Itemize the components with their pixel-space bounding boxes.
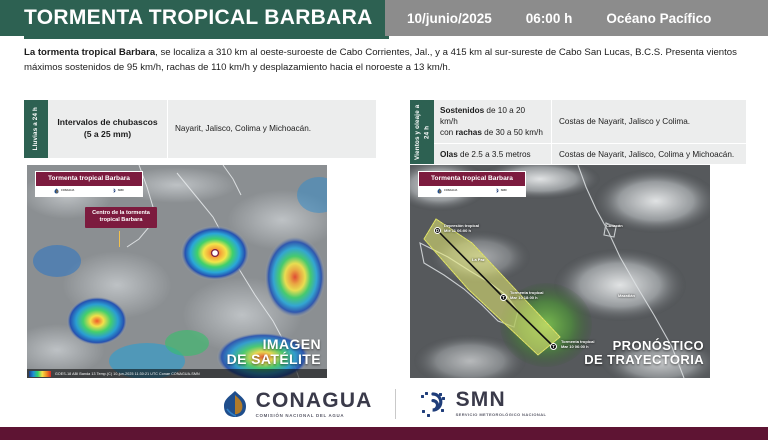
wind-table-side-text: Vientos y oleaje a 24 h <box>413 100 432 164</box>
smn-mini-label: SMN <box>501 190 507 193</box>
wind-forecast-table: Vientos y oleaje a 24 h Sostenidos de 10… <box>410 100 746 164</box>
smn-logo-icon <box>494 188 499 194</box>
satellite-caption-line2: DE SATÉLITE <box>227 352 321 368</box>
wind-gusts-label: rachas <box>455 128 481 137</box>
forecast-point-label-line2: Mié 11 06:00 h <box>444 228 479 233</box>
callout-connector <box>119 231 120 247</box>
smn-brand: SMN SERVICIO METEOROLÓGICO NACIONAL <box>418 389 547 419</box>
storm-description-lead: La tormenta tropical Barbara <box>24 47 155 58</box>
wind-sustained-label: Sostenidos <box>440 106 484 115</box>
wind-table-rows: Sostenidos de 10 a 20 km/h con rachas de… <box>434 100 746 164</box>
conagua-logo-icon <box>222 389 248 419</box>
smn-logo-icon <box>111 188 116 194</box>
footer-branding: CONAGUA COMISIÓN NACIONAL DEL AGUA <box>0 380 768 427</box>
header-title-box: TORMENTA TROPICAL BARBARA <box>0 0 385 36</box>
city-label: La Paz <box>472 257 485 262</box>
conagua-mini-logo: CONAGUA <box>437 188 457 194</box>
waves-value: de 2.5 a 3.5 metros <box>458 150 531 159</box>
storm-legend-logos: CONAGUA SMN <box>36 186 142 196</box>
rain-forecast-table: Lluvias a 24 h Intervalos de chubascos (… <box>24 100 376 158</box>
smn-mini-label: SMN <box>118 190 124 193</box>
trajectory-caption-line2: DE TRAYECTORIA <box>584 353 704 368</box>
header-bar: TORMENTA TROPICAL BARBARA 10/junio/2025 … <box>0 0 768 36</box>
page-title: TORMENTA TROPICAL BARBARA <box>24 6 373 30</box>
satellite-image-panel[interactable]: Centro de la tormenta tropical Barbara T… <box>27 165 327 378</box>
header-meta-box: 10/junio/2025 06:00 h Océano Pacífico <box>385 0 768 36</box>
wind-regions-cell: Costas de Nayarit, Jalisco y Colima. <box>552 100 746 143</box>
smn-subtitle: SERVICIO METEOROLÓGICO NACIONAL <box>456 412 547 418</box>
waves-label: Olas <box>440 150 458 159</box>
storm-legend-badge: Tormenta tropical Barbara CONAGUA SMN <box>35 171 143 197</box>
conagua-subtitle: COMISIÓN NACIONAL DEL AGUA <box>256 413 373 418</box>
storm-center-callout: Centro de la tormenta tropical Barbara <box>85 207 157 228</box>
smn-mini-logo: SMN <box>494 188 506 194</box>
smn-mini-logo: SMN <box>111 188 123 194</box>
trajectory-caption: PRONÓSTICO DE TRAYECTORIA <box>584 339 704 368</box>
conagua-brand: CONAGUA COMISIÓN NACIONAL DEL AGUA <box>222 389 373 419</box>
satellite-attribution: GOES-18 ABI Banda 13 Temp.(C) 10-jun-202… <box>27 369 327 378</box>
waves-regions-cell: Costas de Nayarit, Jalisco, Colima y Mic… <box>552 144 746 165</box>
forecast-point-label-line2: Mar 10 18:00 h <box>510 295 544 300</box>
header-date: 10/junio/2025 <box>407 11 492 26</box>
storm-legend-badge: Tormenta tropical Barbara CONAGUA SMN <box>418 171 526 197</box>
conagua-logo-icon <box>437 188 442 194</box>
rain-table-side-label: Lluvias a 24 h <box>24 100 48 158</box>
satellite-caption-line1: IMAGEN <box>227 337 321 353</box>
bulletin-page: TORMENTA TROPICAL BARBARA 10/junio/2025 … <box>0 0 768 440</box>
forecast-point-marker[interactable]: T <box>500 294 507 301</box>
conagua-brand-text: CONAGUA COMISIÓN NACIONAL DEL AGUA <box>256 390 373 418</box>
rain-regions-cell: Nayarit, Jalisco, Colima y Michoacán. <box>168 100 376 158</box>
color-scale-swatch <box>29 371 51 377</box>
trajectory-forecast-panel[interactable]: D Depresión tropical Mié 11 06:00 h T To… <box>410 165 710 378</box>
smn-brand-text: SMN SERVICIO METEOROLÓGICO NACIONAL <box>456 389 547 418</box>
conagua-logo-icon <box>54 188 59 194</box>
trajectory-caption-line1: PRONÓSTICO <box>584 339 704 354</box>
satellite-attribution-text: GOES-18 ABI Banda 13 Temp.(C) 10-jun-202… <box>55 372 200 376</box>
table-row: Sostenidos de 10 a 20 km/h con rachas de… <box>434 100 746 143</box>
conagua-mini-logo: CONAGUA <box>54 188 74 194</box>
conagua-mini-label: CONAGUA <box>61 190 74 193</box>
header-time: 06:00 h <box>526 11 573 26</box>
city-label: Mazatlán <box>618 293 635 298</box>
forecast-point-marker[interactable]: T <box>550 343 557 350</box>
wind-gusts-value: de 30 a 50 km/h <box>482 128 543 137</box>
smn-logo-icon <box>418 389 448 419</box>
smn-name: SMN <box>456 389 547 410</box>
wind-gusts-prefix: con <box>440 128 455 137</box>
wind-gusts-line: con rachas de 30 a 50 km/h <box>440 127 545 138</box>
header-underline <box>24 36 389 39</box>
wind-sustained-line: Sostenidos de 10 a 20 km/h <box>440 105 545 127</box>
conagua-name: CONAGUA <box>256 390 373 411</box>
table-row: Intervalos de chubascos (5 a 25 mm) Naya… <box>48 100 376 158</box>
waves-measure-cell: Olas de 2.5 a 3.5 metros <box>434 144 552 165</box>
wind-measure-cell: Sostenidos de 10 a 20 km/h con rachas de… <box>434 100 552 143</box>
header-basin: Océano Pacífico <box>606 11 711 26</box>
storm-center-marker <box>212 250 219 257</box>
bottom-accent-bar <box>0 427 768 440</box>
conagua-mini-label: CONAGUA <box>444 190 457 193</box>
city-label: Culiacán <box>606 223 623 228</box>
footer-divider <box>395 389 396 419</box>
waves-line: Olas de 2.5 a 3.5 metros <box>440 149 545 160</box>
forecast-point-label: Tormenta tropical Mar 10 18:00 h <box>510 290 544 300</box>
table-row: Olas de 2.5 a 3.5 metros Costas de Nayar… <box>434 143 746 165</box>
rain-intensity-cell: Intervalos de chubascos (5 a 25 mm) <box>48 100 168 158</box>
satellite-caption: IMAGEN DE SATÉLITE <box>227 337 321 368</box>
forecast-point-marker[interactable]: D <box>434 227 441 234</box>
storm-legend-title: Tormenta tropical Barbara <box>419 172 525 186</box>
rain-table-rows: Intervalos de chubascos (5 a 25 mm) Naya… <box>48 100 376 158</box>
forecast-point-label: Depresión tropical Mié 11 06:00 h <box>444 223 479 233</box>
wind-table-side-label: Vientos y oleaje a 24 h <box>410 100 434 164</box>
rain-table-side-text: Lluvias a 24 h <box>31 107 40 150</box>
storm-description: La tormenta tropical Barbara, se localiz… <box>24 46 746 76</box>
storm-legend-title: Tormenta tropical Barbara <box>36 172 142 186</box>
storm-legend-logos: CONAGUA SMN <box>419 186 525 196</box>
